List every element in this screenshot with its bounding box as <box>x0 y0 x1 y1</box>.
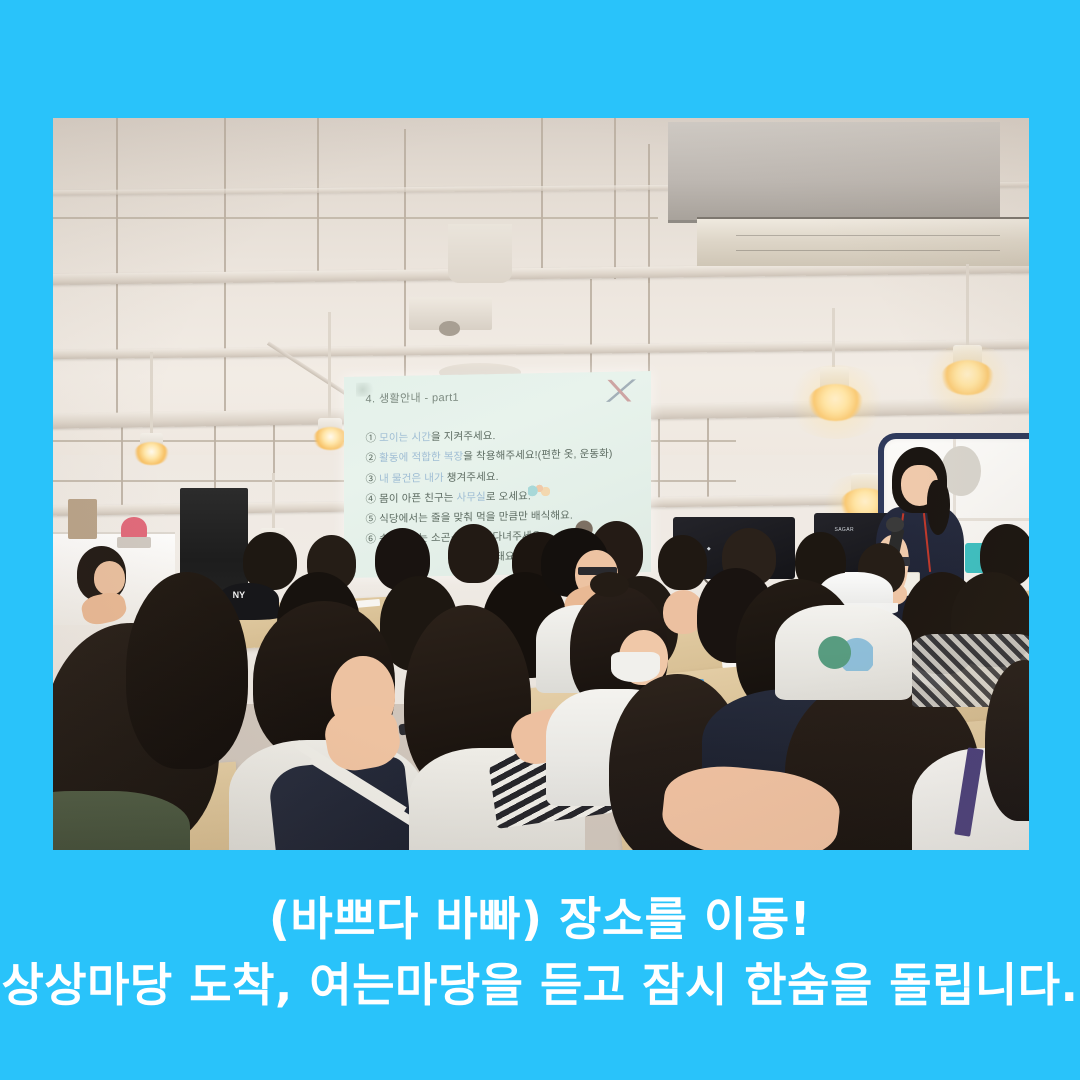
caption-line-2: 상상마당 도착, 여는마당을 듣고 잠시 한숨을 돌립니다. <box>0 952 1080 1018</box>
caption-line-1: (바쁘다 바빠) 장소를 이동! <box>0 886 1080 952</box>
slide-rule-3-marker: ③ <box>365 473 376 485</box>
ceiling-rod <box>116 118 118 279</box>
slide-rule-4-highlight: 사무실 <box>456 491 485 504</box>
monitor-logo: SAGAR <box>834 527 854 533</box>
ceiling-diffuser <box>448 224 511 283</box>
ceiling-rod <box>224 118 226 279</box>
slide-rule-4-prefix: 몸이 아픈 친구는 <box>379 492 456 505</box>
slide-rule-6-marker: ⑥ <box>365 534 376 546</box>
slide-rule-2-highlight: 활동에 적합한 복장 <box>379 451 463 465</box>
slide-rule-2-rest: 을 착용해주세요!(편한 옷, 운동화) <box>463 448 612 463</box>
cabinet-tray <box>117 537 150 549</box>
cabinet-box <box>68 499 97 539</box>
slide-rule-3-rest: 챙겨주세요. <box>444 471 499 484</box>
ceiling-rod <box>707 418 709 506</box>
slide-rule-4-marker: ④ <box>365 493 376 505</box>
slide-rule-1-marker: ① <box>365 433 376 445</box>
pills-icon <box>528 484 550 496</box>
slide-rule-5-rest: 식당에서는 줄을 맞춰 먹을 만큼만 배식해요. <box>379 510 573 526</box>
slide-rule-1-rest: 을 지켜주세요. <box>431 431 496 444</box>
audience-person <box>658 535 707 590</box>
lamp-glow <box>917 345 1019 415</box>
slide-rule-3: ③ 내 물건은 내가 챙겨주세요. <box>365 469 498 487</box>
hvac-grille-line <box>736 250 1000 251</box>
slide-rule-4-suffix: 로 오세요. <box>486 490 531 503</box>
ceiling-rod <box>658 418 660 506</box>
slide-rule-2: ② 활동에 적합한 복장을 착용해주세요!(편한 옷, 운동화) <box>365 446 612 466</box>
ceiling-rod <box>121 418 123 506</box>
cap-logo: NY <box>233 591 254 607</box>
poster-canvas: 4. 생활안내 - part1 ① 모이는 시간을 지켜주세요. ② 활동에 적… <box>0 0 1080 1080</box>
lamp-bulb <box>134 442 169 465</box>
lamp-rod <box>150 352 153 440</box>
slide-title: 4. 생활안내 - part1 <box>365 389 459 407</box>
audience-person <box>126 572 248 770</box>
caption-block: (바쁘다 바빠) 장소를 이동! 상상마당 도착, 여는마당을 듣고 잠시 한숨… <box>0 886 1080 1018</box>
lamp-rod <box>328 312 331 429</box>
face-mask <box>611 652 660 681</box>
lamp-glow <box>783 365 890 438</box>
audience-person <box>94 561 125 595</box>
ceiling-rod <box>648 144 650 283</box>
monitor-logo: ◆ <box>707 546 711 552</box>
hvac-grille <box>697 217 1029 267</box>
slide-rule-5-marker: ⑤ <box>365 513 376 525</box>
audience-person <box>448 524 499 583</box>
hair-bun <box>590 572 629 597</box>
ceiling-pipe <box>53 217 658 219</box>
audience-person <box>243 532 297 591</box>
tshirt-graphic <box>809 634 872 671</box>
microphone-head <box>886 517 905 532</box>
hvac-duct <box>668 122 1000 224</box>
ceiling-rod <box>317 118 319 279</box>
slide-rule-1: ① 모이는 시간을 지켜주세요. <box>365 429 495 446</box>
ceiling-rod <box>614 118 616 279</box>
slide-rule-1-highlight: 모이는 시간 <box>379 432 431 445</box>
event-photo: 4. 생활안내 - part1 ① 모이는 시간을 지켜주세요. ② 활동에 적… <box>53 118 1029 850</box>
projector-lens <box>439 321 460 336</box>
slide-rule-4: ④ 몸이 아픈 친구는 사무실로 오세요. <box>365 488 530 506</box>
slide-rule-3-highlight: 내 물건은 내가 <box>379 472 444 485</box>
hvac-grille-line <box>736 235 1000 236</box>
ceiling-rod <box>541 118 543 279</box>
slide-rule-2-marker: ② <box>365 453 376 465</box>
ceiling-rod <box>404 129 406 283</box>
crossed-tools-icon <box>601 380 639 403</box>
lamp-rod <box>966 264 969 352</box>
lamp-bulb <box>313 427 348 450</box>
